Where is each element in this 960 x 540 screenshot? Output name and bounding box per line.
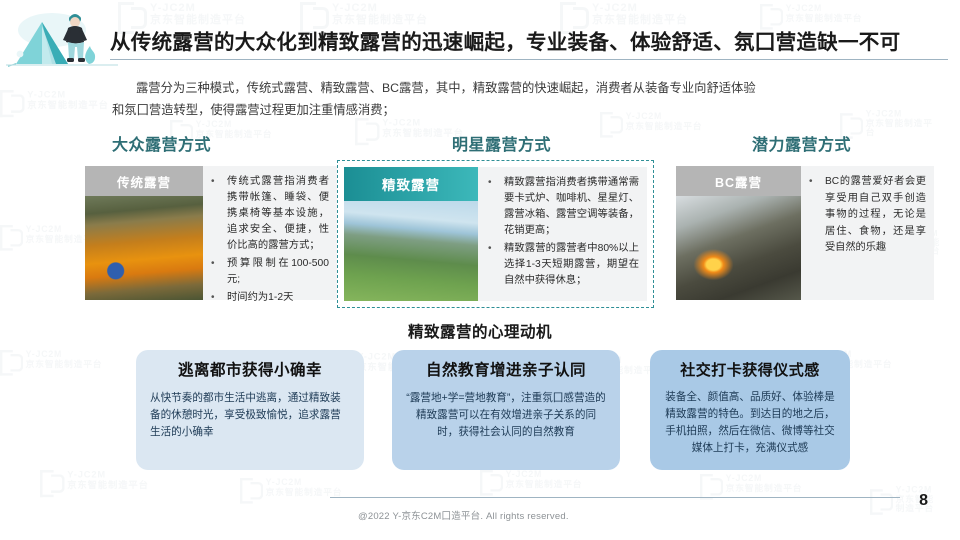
watermark-text-cn: 京东智能制造平台	[150, 15, 246, 27]
watermark-text-en: Y-JC2M	[196, 121, 273, 130]
card-label-glamping: 精致露营	[344, 167, 478, 201]
motivation-card-escape-city: 逃离都市获得小确幸 从快节奏的都市生活中逃离，通过精致装备的休憩时光，享受极致愉…	[136, 350, 364, 470]
page-title: 从传统露营的大众化到精致露营的迅速崛起，专业装备、体验舒适、氛囗营造缺一不可	[110, 30, 952, 56]
list-item: • 传统式露营指消费者携带帐篷、睡袋、便携桌椅等基本设施，追求安全、便捷，性价比…	[209, 174, 329, 254]
list-item: • BC的露营爱好者会更享受用自己双手创造事物的过程，无论是居住、食物，还是享受…	[807, 174, 926, 257]
watermark-text: Y-JC2M京东智能制造平台	[266, 479, 343, 497]
card-traditional-camping: 传统露营 • 传统式露营指消费者携带帐篷、睡袋、便携桌椅等基本设施，追求安全、便…	[85, 166, 337, 300]
watermark-text-cn: 京东智能制造平台	[506, 480, 583, 489]
bullet-text: 精致露营指消费者携带通常需要卡式炉、咖啡机、星星灯、露营冰箱、露营空调等装备，花…	[504, 175, 639, 239]
watermark-text-en: Y-JC2M	[332, 3, 428, 15]
watermark-text: Y-JC2M京东智能制造平台	[332, 3, 428, 26]
watermark: Y-JC2M京东智能制造平台	[240, 478, 342, 499]
title-divider	[110, 59, 948, 61]
card-media: 传统露营	[85, 166, 203, 300]
card-bc-camping: BC露营 • BC的露营爱好者会更享受用自己双手创造事物的过程，无论是居住、食物…	[676, 166, 934, 300]
motivation-heading: 精致露营的心理动机	[0, 320, 960, 342]
list-item: • 时间约为1-2天	[209, 290, 329, 306]
watermark-text-cn: 京东智能制造平台	[332, 15, 428, 27]
watermark-text-en: Y-JC2M	[726, 475, 803, 484]
camping-mode-cards: 传统露营 • 传统式露营指消费者携带帐篷、睡袋、便携桌椅等基本设施，追求安全、便…	[0, 160, 960, 310]
watermark: Y-JC2M京东智能制造平台	[118, 2, 246, 28]
watermark: Y-JC2M京东智能制造平台	[870, 486, 942, 514]
footer-copyright: @2022 Y-京东C2M囗造平台. All rights reserved.	[358, 508, 569, 522]
camping-illustration	[6, 2, 118, 74]
bullet-text: 时间约为1-2天	[227, 290, 329, 306]
watermark-text-en: Y-JC2M	[27, 91, 109, 101]
watermark-logo-icon	[560, 2, 586, 28]
list-item: • 精致露营的露营者中80%以上选择1-3天短期露营，期望在自然中获得休息；	[486, 241, 639, 289]
card-body: • 传统式露营指消费者携带帐篷、睡袋、便携桌椅等基本设施，追求安全、便捷，性价比…	[203, 166, 337, 300]
list-item: • 预算限制在100-500元;	[209, 256, 329, 288]
watermark-logo-icon	[0, 90, 22, 112]
bullet-dot-icon: •	[209, 256, 227, 288]
footer-divider	[330, 497, 900, 498]
card-body: • BC的露营爱好者会更享受用自己双手创造事物的过程，无论是居住、食物，还是享受…	[801, 166, 934, 300]
watermark-text: Y-JC2M京东智能制造平台	[786, 5, 863, 23]
watermark-text-en: Y-JC2M	[150, 3, 246, 15]
watermark: Y-JC2M京东智能制造平台	[700, 474, 802, 495]
watermark: Y-JC2M京东智能制造平台	[760, 4, 862, 25]
watermark-logo-icon	[700, 474, 721, 495]
watermark-text-en: Y-JC2M	[786, 5, 863, 14]
watermark: Y-JC2M京东智能制造平台	[560, 2, 688, 28]
motivation-title: 自然教育增进亲子认同	[406, 362, 606, 381]
watermark-logo-icon	[300, 2, 326, 28]
watermark-text-en: Y-JC2M	[266, 479, 343, 488]
bullet-dot-icon: •	[807, 174, 825, 257]
card-label-bc: BC露营	[676, 166, 801, 196]
motivation-card-nature-education: 自然教育增进亲子认同 “露营地+学=营地教育”，注重氛囗感营造的精致露营可以在有…	[392, 350, 620, 470]
motivation-text: “露营地+学=营地教育”，注重氛囗感营造的精致露营可以在有效增进亲子关系的同时，…	[406, 390, 606, 441]
winter-bushcraft-fire-photo	[676, 196, 801, 300]
column-heading-potential: 潜力露营方式	[752, 131, 851, 155]
bullet-text: 传统式露营指消费者携带帐篷、睡袋、便携桌椅等基本设施，追求安全、便捷，性价比高的…	[227, 174, 329, 254]
motivation-text: 从快节奏的都市生活中逃离，通过精致装备的休憩时光，享受极致愉悦，追求露营生活的小…	[150, 390, 350, 441]
watermark-logo-icon	[760, 4, 781, 25]
bullet-dot-icon: •	[486, 241, 504, 289]
bullet-text: 精致露营的露营者中80%以上选择1-3天短期露营，期望在自然中获得休息；	[504, 241, 639, 289]
bullet-dot-icon: •	[486, 175, 504, 239]
slide-canvas: Y-JC2M京东智能制造平台Y-JC2M京东智能制造平台Y-JC2M京东智能制造…	[0, 0, 960, 540]
watermark-text: Y-JC2M京东智能制造平台	[726, 475, 803, 493]
subtitle-line-2: 和氛囗营造转型，使得露营过程更加注重情感消费；	[112, 103, 395, 117]
autumn-hillside-hiker-photo	[85, 196, 203, 300]
list-item: • 精致露营指消费者携带通常需要卡式炉、咖啡机、星星灯、露营冰箱、露营空调等装备…	[486, 175, 639, 239]
watermark-text: Y-JC2M京东智能制造平台	[592, 3, 688, 26]
bullet-dot-icon: •	[209, 174, 227, 254]
card-label-traditional: 传统露营	[85, 166, 203, 196]
title-block: 从传统露营的大众化到精致露营的迅速崛起，专业装备、体验舒适、氛囗营造缺一不可	[110, 30, 952, 60]
watermark-text-cn: 京东智能制造平台	[27, 101, 109, 111]
column-headings: 大众露营方式 明星露营方式 潜力露营方式	[0, 131, 960, 157]
column-heading-mass: 大众露营方式	[112, 131, 211, 155]
watermark-text-cn: 京东智能制造平台	[726, 484, 803, 493]
watermark-text-cn: 京东智能制造平台	[67, 481, 149, 491]
bullet-dot-icon: •	[209, 290, 227, 306]
watermark-text-en: Y-JC2M	[592, 3, 688, 15]
bullet-text: 预算限制在100-500元;	[227, 256, 329, 288]
watermark: Y-JC2M京东智能制造平台	[0, 90, 109, 112]
motivation-card-social-checkin: 社交打卡获得仪式感 装备全、颜值高、品质好、体验棒是精致露营的特色。到达目的地之…	[650, 350, 850, 470]
motivation-text: 装备全、颜值高、品质好、体验棒是精致露营的特色。到达目的地之后，手机拍照，然后在…	[664, 389, 836, 458]
lakeside-glamping-group-photo	[344, 201, 478, 301]
watermark-text-cn: 京东智能制造平台	[592, 15, 688, 27]
column-heading-star: 明星露营方式	[452, 131, 551, 155]
card-body: • 精致露营指消费者携带通常需要卡式炉、咖啡机、星星灯、露营冰箱、露营空调等装备…	[478, 167, 647, 301]
motivation-title: 逃离都市获得小确幸	[150, 362, 350, 381]
card-media: BC露营	[676, 166, 801, 300]
motivation-title: 社交打卡获得仪式感	[664, 362, 836, 380]
watermark-text: Y-JC2M京东智能制造平台	[150, 3, 246, 26]
watermark-text-cn: 京东智能制造平台	[786, 14, 863, 23]
page-number: 8	[919, 492, 928, 510]
watermark-logo-icon	[240, 478, 261, 499]
bullet-text: BC的露营爱好者会更享受用自己双手创造事物的过程，无论是居住、食物，还是享受自然…	[825, 174, 926, 257]
card-media: 精致露营	[344, 167, 478, 301]
watermark-logo-icon	[870, 489, 891, 510]
subtitle-line-1: 露营分为三种模式，传统式露营、精致露营、BC露营，其中，精致露营的快速崛起，消费…	[136, 81, 756, 95]
card-glamping-highlighted: 精致露营 • 精致露营指消费者携带通常需要卡式炉、咖啡机、星星灯、露营冰箱、露营…	[337, 160, 654, 308]
subtitle-paragraph: 露营分为三种模式，传统式露营、精致露营、BC露营，其中，精致露营的快速崛起，消费…	[112, 78, 902, 121]
watermark-text: Y-JC2M京东智能制造平台	[27, 91, 109, 111]
watermark-logo-icon	[118, 2, 144, 28]
motivation-boxes: 逃离都市获得小确幸 从快节奏的都市生活中逃离，通过精致装备的休憩时光，享受极致愉…	[0, 350, 960, 475]
watermark: Y-JC2M京东智能制造平台	[300, 2, 428, 28]
